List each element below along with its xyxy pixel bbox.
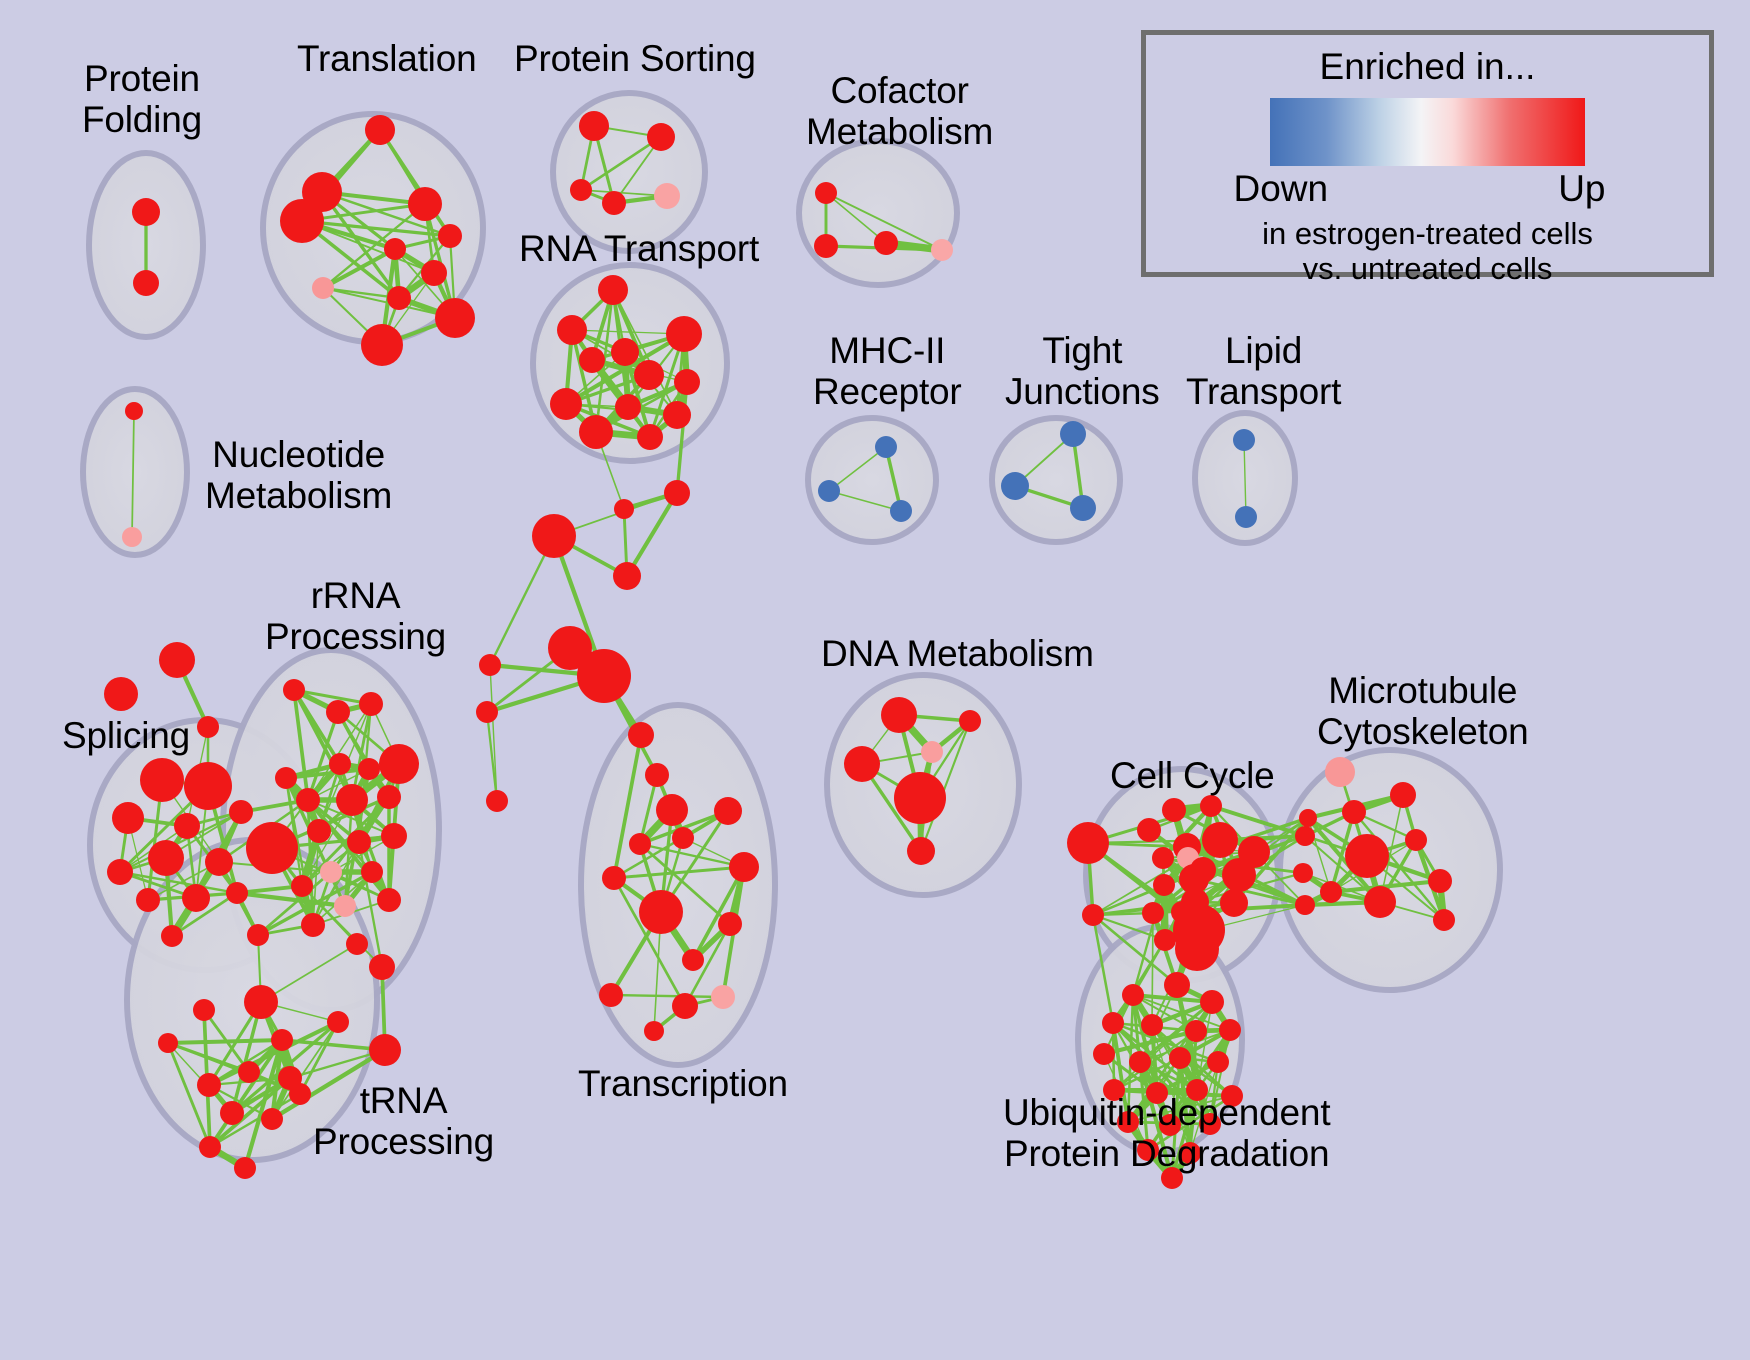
network-node-translation[interactable]	[312, 277, 334, 299]
network-node-cofactor-metabolism[interactable]	[814, 234, 838, 258]
network-node-translation[interactable]	[438, 224, 462, 248]
network-node-mhc-ii-receptor[interactable]	[875, 436, 897, 458]
network-node-cell-cycle[interactable]	[1220, 889, 1248, 917]
network-node-rna-transport[interactable]	[611, 338, 639, 366]
network-node-transcription[interactable]	[656, 794, 688, 826]
network-node-rrna-processing[interactable]	[320, 861, 342, 883]
network-node-rrna-processing[interactable]	[247, 924, 269, 946]
network-edge	[490, 665, 497, 801]
network-node-tight-junctions[interactable]	[1070, 495, 1096, 521]
network-node-transcription[interactable]	[718, 912, 742, 936]
network-node-lipid-transport[interactable]	[1233, 429, 1255, 451]
network-node-rrna-processing[interactable]	[361, 861, 383, 883]
network-node-rrna-processing[interactable]	[307, 819, 331, 843]
network-node-transcription[interactable]	[644, 1021, 664, 1041]
network-node-rna-transport[interactable]	[637, 424, 663, 450]
network-node-trna-processing[interactable]	[197, 1073, 221, 1097]
network-node-rrna-processing[interactable]	[346, 933, 368, 955]
network-node-ubiquitin-protein-degradation[interactable]	[1093, 1043, 1115, 1065]
network-node-protein-sorting[interactable]	[570, 179, 592, 201]
network-node-rna-transport[interactable]	[634, 360, 664, 390]
network-node-dna-metabolism[interactable]	[844, 746, 880, 782]
network-node-splicing[interactable]	[159, 642, 195, 678]
network-node-trna-processing[interactable]	[369, 1034, 401, 1066]
network-node-transcription[interactable]	[629, 833, 651, 855]
network-node-rrna-processing[interactable]	[326, 700, 350, 724]
network-node-rna-transport[interactable]	[674, 369, 700, 395]
network-node-trna-processing[interactable]	[199, 1136, 221, 1158]
network-node-trna-processing[interactable]	[158, 1033, 178, 1053]
legend-caption-line-1: in estrogen-treated cells	[1146, 216, 1709, 251]
network-node-mhc-ii-receptor[interactable]	[890, 500, 912, 522]
network-node-rna-transport[interactable]	[598, 275, 628, 305]
network-node-translation[interactable]	[387, 286, 411, 310]
network-node-trna-processing[interactable]	[238, 1061, 260, 1083]
network-node-rrna-processing[interactable]	[358, 758, 380, 780]
network-node-cofactor-metabolism[interactable]	[815, 182, 837, 204]
network-node-translation[interactable]	[365, 115, 395, 145]
network-node-cell-cycle[interactable]	[1152, 847, 1174, 869]
network-node-chain[interactable]	[645, 763, 669, 787]
network-node-trna-processing[interactable]	[289, 1083, 311, 1105]
network-node-rrna-processing[interactable]	[329, 753, 351, 775]
network-node-protein-sorting[interactable]	[654, 183, 680, 209]
network-node-rrna-processing[interactable]	[334, 895, 356, 917]
network-node-microtubule-cytoskeleton[interactable]	[1433, 909, 1455, 931]
network-node-transcription[interactable]	[599, 983, 623, 1007]
network-node-transcription[interactable]	[682, 949, 704, 971]
network-node-splicing[interactable]	[112, 802, 144, 834]
network-node-rrna-processing[interactable]	[369, 954, 395, 980]
network-node-ubiquitin-protein-degradation[interactable]	[1200, 990, 1224, 1014]
network-node-rrna-processing[interactable]	[246, 822, 298, 874]
network-node-ubiquitin-protein-degradation[interactable]	[1221, 1085, 1243, 1107]
network-node-transcription[interactable]	[672, 827, 694, 849]
network-node-protein-folding[interactable]	[132, 198, 160, 226]
network-node-translation[interactable]	[435, 298, 475, 338]
network-node-microtubule-cytoskeleton[interactable]	[1325, 757, 1355, 787]
network-node-rna-transport[interactable]	[615, 394, 641, 420]
legend-box: Enriched in... Down Up in estrogen-treat…	[1141, 30, 1714, 277]
legend-title: Enriched in...	[1146, 46, 1709, 88]
network-node-translation[interactable]	[280, 199, 324, 243]
network-node-cell-cycle[interactable]	[1153, 874, 1175, 896]
network-node-splicing[interactable]	[182, 884, 210, 912]
network-node-ubiquitin-protein-degradation[interactable]	[1207, 1051, 1229, 1073]
network-node-transcription[interactable]	[672, 993, 698, 1019]
network-node-chain[interactable]	[479, 654, 501, 676]
network-node-tight-junctions[interactable]	[1001, 472, 1029, 500]
network-node-splicing[interactable]	[104, 677, 138, 711]
network-node-cell-cycle[interactable]	[1175, 927, 1219, 971]
pathway-network-figure: Protein FoldingTranslationProtein Sortin…	[0, 0, 1750, 1360]
network-node-chain[interactable]	[614, 499, 634, 519]
network-node-protein-folding[interactable]	[133, 270, 159, 296]
network-node-transcription[interactable]	[639, 890, 683, 934]
network-node-rna-transport[interactable]	[550, 388, 582, 420]
network-node-splicing[interactable]	[197, 716, 219, 738]
network-node-splicing[interactable]	[174, 813, 200, 839]
network-node-ubiquitin-protein-degradation[interactable]	[1161, 1167, 1183, 1189]
cluster-ellipse-protein-sorting	[553, 93, 705, 251]
network-node-rrna-processing[interactable]	[296, 788, 320, 812]
network-node-cell-cycle[interactable]	[1154, 929, 1176, 951]
network-node-cell-cycle[interactable]	[1200, 795, 1222, 817]
network-node-ubiquitin-protein-degradation[interactable]	[1164, 972, 1190, 998]
network-node-dna-metabolism[interactable]	[894, 772, 946, 824]
network-node-cell-cycle[interactable]	[1181, 888, 1209, 916]
legend-up-label: Up	[1558, 168, 1605, 210]
network-node-cell-cycle[interactable]	[1293, 863, 1313, 883]
network-node-trna-processing[interactable]	[327, 1011, 349, 1033]
network-node-trna-processing[interactable]	[193, 999, 215, 1021]
network-node-cell-cycle[interactable]	[1082, 904, 1104, 926]
network-node-transcription[interactable]	[602, 866, 626, 890]
cluster-ellipse-mhc-ii-receptor	[808, 418, 936, 542]
network-node-cell-cycle[interactable]	[1162, 798, 1186, 822]
network-node-rna-transport[interactable]	[579, 415, 613, 449]
network-node-mhc-ii-receptor[interactable]	[818, 480, 840, 502]
network-node-splicing[interactable]	[184, 762, 232, 810]
network-node-rrna-processing[interactable]	[275, 767, 297, 789]
network-node-ubiquitin-protein-degradation[interactable]	[1199, 1113, 1221, 1135]
network-node-splicing[interactable]	[148, 840, 184, 876]
network-node-splicing[interactable]	[140, 758, 184, 802]
legend-down-label: Down	[1234, 168, 1329, 210]
network-node-chain[interactable]	[664, 480, 690, 506]
network-node-dna-metabolism[interactable]	[921, 741, 943, 763]
network-node-rrna-processing[interactable]	[283, 679, 305, 701]
network-node-rrna-processing[interactable]	[336, 784, 368, 816]
network-node-splicing[interactable]	[136, 888, 160, 912]
network-node-dna-metabolism[interactable]	[959, 710, 981, 732]
network-node-transcription[interactable]	[714, 797, 742, 825]
network-node-rna-transport[interactable]	[663, 401, 691, 429]
network-edge	[487, 712, 497, 801]
network-node-trna-processing[interactable]	[234, 1157, 256, 1179]
network-node-chain[interactable]	[613, 562, 641, 590]
network-node-ubiquitin-protein-degradation[interactable]	[1122, 984, 1144, 1006]
network-node-protein-sorting[interactable]	[647, 123, 675, 151]
network-node-ubiquitin-protein-degradation[interactable]	[1219, 1019, 1241, 1041]
network-node-chain[interactable]	[486, 790, 508, 812]
legend-caption-line-2: vs. untreated cells	[1146, 251, 1709, 286]
network-node-ubiquitin-protein-degradation[interactable]	[1169, 1047, 1191, 1069]
network-node-ubiquitin-protein-degradation[interactable]	[1102, 1012, 1124, 1034]
network-node-rrna-processing[interactable]	[377, 785, 401, 809]
network-node-rna-transport[interactable]	[557, 315, 587, 345]
network-node-dna-metabolism[interactable]	[881, 697, 917, 733]
cluster-ellipse-microtubule-cytoskeleton	[1280, 750, 1500, 990]
network-node-rna-transport[interactable]	[579, 347, 605, 373]
network-node-cell-cycle[interactable]	[1295, 826, 1315, 846]
network-node-translation[interactable]	[384, 238, 406, 260]
network-node-cell-cycle[interactable]	[1222, 858, 1256, 892]
network-node-splicing[interactable]	[107, 859, 133, 885]
network-node-chain[interactable]	[476, 701, 498, 723]
network-node-ubiquitin-protein-degradation[interactable]	[1146, 1082, 1168, 1104]
network-node-transcription[interactable]	[628, 722, 654, 748]
network-node-splicing[interactable]	[161, 925, 183, 947]
network-node-microtubule-cytoskeleton[interactable]	[1364, 886, 1396, 918]
network-node-transcription[interactable]	[711, 985, 735, 1009]
network-node-trna-processing[interactable]	[244, 985, 278, 1019]
network-node-translation[interactable]	[421, 260, 447, 286]
network-node-lipid-transport[interactable]	[1235, 506, 1257, 528]
network-node-cell-cycle[interactable]	[1202, 822, 1238, 858]
legend-color-gradient-bar	[1270, 98, 1585, 166]
network-node-chain[interactable]	[532, 514, 576, 558]
network-node-ubiquitin-protein-degradation[interactable]	[1179, 1142, 1201, 1164]
network-node-trna-processing[interactable]	[220, 1101, 244, 1125]
cluster-ellipse-cofactor-metabolism	[799, 141, 957, 285]
network-node-translation[interactable]	[408, 187, 442, 221]
network-node-rrna-processing[interactable]	[291, 875, 313, 897]
network-node-rna-transport[interactable]	[666, 316, 702, 352]
network-node-nucleotide-metabolism[interactable]	[122, 527, 142, 547]
network-node-cell-cycle[interactable]	[1067, 822, 1109, 864]
network-node-ubiquitin-protein-degradation[interactable]	[1141, 1014, 1163, 1036]
network-node-rrna-processing[interactable]	[359, 692, 383, 716]
network-node-cell-cycle[interactable]	[1137, 818, 1161, 842]
network-node-microtubule-cytoskeleton[interactable]	[1405, 829, 1427, 851]
network-node-protein-sorting[interactable]	[602, 191, 626, 215]
network-node-dna-metabolism[interactable]	[907, 837, 935, 865]
network-node-rrna-processing[interactable]	[379, 744, 419, 784]
network-node-rrna-processing[interactable]	[347, 830, 371, 854]
network-node-ubiquitin-protein-degradation[interactable]	[1103, 1079, 1125, 1101]
network-node-microtubule-cytoskeleton[interactable]	[1342, 800, 1366, 824]
network-node-protein-sorting[interactable]	[579, 111, 609, 141]
network-node-transcription[interactable]	[729, 852, 759, 882]
network-node-cofactor-metabolism[interactable]	[874, 231, 898, 255]
network-node-cell-cycle[interactable]	[1142, 902, 1164, 924]
network-node-splicing[interactable]	[205, 848, 233, 876]
network-node-ubiquitin-protein-degradation[interactable]	[1185, 1020, 1207, 1042]
legend-caption: in estrogen-treated cells vs. untreated …	[1146, 216, 1709, 286]
network-node-rrna-processing[interactable]	[377, 888, 401, 912]
network-node-nucleotide-metabolism[interactable]	[125, 402, 143, 420]
network-node-cell-cycle[interactable]	[1295, 895, 1315, 915]
network-node-splicing[interactable]	[229, 800, 253, 824]
network-node-ubiquitin-protein-degradation[interactable]	[1186, 1079, 1208, 1101]
network-node-ubiquitin-protein-degradation[interactable]	[1129, 1051, 1151, 1073]
network-node-microtubule-cytoskeleton[interactable]	[1320, 881, 1342, 903]
network-node-ubiquitin-protein-degradation[interactable]	[1117, 1111, 1139, 1133]
network-node-cofactor-metabolism[interactable]	[931, 239, 953, 261]
network-node-microtubule-cytoskeleton[interactable]	[1428, 869, 1452, 893]
network-edge	[1152, 913, 1153, 1025]
network-node-rrna-processing[interactable]	[381, 823, 407, 849]
network-node-splicing[interactable]	[226, 882, 248, 904]
network-node-trna-processing[interactable]	[261, 1108, 283, 1130]
network-node-ubiquitin-protein-degradation[interactable]	[1137, 1139, 1159, 1161]
network-node-trna-processing[interactable]	[271, 1029, 293, 1051]
network-node-cell-cycle[interactable]	[1299, 809, 1317, 827]
network-node-chain[interactable]	[577, 649, 631, 703]
network-node-microtubule-cytoskeleton[interactable]	[1345, 834, 1389, 878]
network-node-tight-junctions[interactable]	[1060, 421, 1086, 447]
network-node-microtubule-cytoskeleton[interactable]	[1390, 782, 1416, 808]
network-node-ubiquitin-protein-degradation[interactable]	[1159, 1114, 1181, 1136]
network-node-translation[interactable]	[361, 324, 403, 366]
network-node-rrna-processing[interactable]	[301, 913, 325, 937]
legend-endpoint-labels: Down Up	[1228, 168, 1628, 214]
